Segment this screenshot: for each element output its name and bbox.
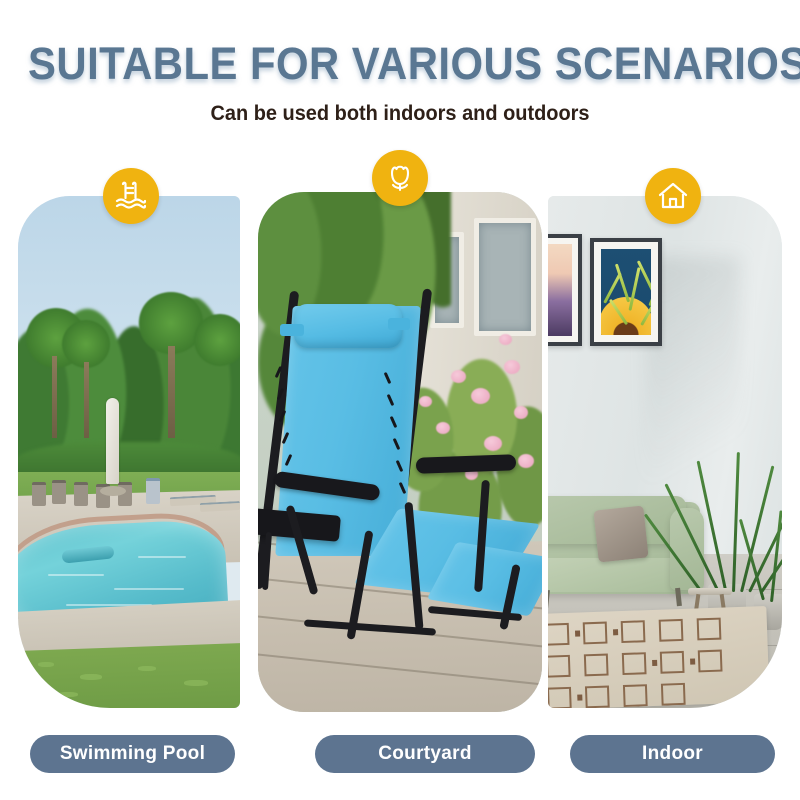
patio-chair (52, 480, 66, 504)
page-header: SUITABLE FOR VARIOUS SCENARIOS Can be us… (0, 0, 800, 126)
leaf-blade (637, 260, 651, 295)
rug-motif (698, 650, 723, 673)
page-subtitle: Can be used both indoors and outdoors (20, 102, 780, 126)
rug-motif (621, 620, 646, 643)
rug-motif (577, 694, 582, 700)
rug-motif (583, 622, 608, 645)
rug-motif (584, 654, 609, 677)
area-rug (548, 606, 770, 708)
grass-detail (184, 680, 208, 686)
product-feature-page: SUITABLE FOR VARIOUS SCENARIOS Can be us… (0, 0, 800, 800)
patio-chair (32, 482, 46, 506)
rug-motif (690, 658, 695, 664)
wall-art-frame-sunflower (590, 238, 662, 346)
grass-detail (38, 662, 54, 667)
grass-detail (58, 692, 78, 697)
palm-tree-icon (62, 320, 110, 368)
grass-detail (80, 674, 102, 680)
caption-pill-courtyard[interactable]: Courtyard (315, 735, 535, 773)
badge-indoor (645, 168, 701, 224)
palm-trunk (84, 362, 89, 438)
rug-motif (623, 684, 648, 707)
headrest-strap (280, 324, 304, 336)
rug-motif (548, 687, 572, 708)
patio-chair (146, 478, 160, 504)
tulip-flower-icon (384, 162, 416, 194)
caption-label: Courtyard (378, 743, 472, 765)
badge-courtyard (372, 150, 428, 206)
rug-motif (613, 629, 618, 635)
patio-chair (74, 482, 88, 506)
caption-label: Indoor (642, 743, 703, 765)
lawn-lower (18, 642, 240, 708)
wall-art-frame-left (548, 234, 582, 346)
house-icon (657, 181, 689, 211)
pool-ladder-icon (114, 181, 148, 211)
patio-umbrella (106, 398, 119, 484)
rug-motif (659, 619, 684, 642)
side-table-top (688, 588, 732, 595)
rug-motif (548, 623, 569, 646)
grass-detail (138, 666, 156, 671)
water-ripple (138, 556, 186, 558)
umbrella-base (100, 486, 126, 496)
chair-headrest-pillow (294, 304, 402, 348)
badge-swimming-pool (103, 168, 159, 224)
pool-scene (18, 196, 240, 708)
courtyard-scene (258, 192, 542, 712)
water-ripple (114, 588, 184, 590)
scene-image-swimming-pool (18, 196, 240, 708)
palm-tree-icon (194, 314, 240, 366)
rug-motif (660, 651, 685, 674)
caption-pill-swimming-pool[interactable]: Swimming Pool (30, 735, 235, 773)
artwork-sunflower (601, 249, 651, 335)
palm-trunk (168, 346, 175, 438)
scene-image-indoor (548, 196, 782, 708)
rug-motif (585, 686, 610, 708)
scene-image-courtyard (258, 192, 542, 712)
page-title: SUITABLE FOR VARIOUS SCENARIOS (28, 38, 772, 90)
rug-motif (548, 655, 571, 678)
caption-label: Swimming Pool (60, 743, 205, 765)
rug-motif (661, 683, 686, 706)
headrest-strap (388, 318, 410, 330)
rug-motif (697, 618, 722, 641)
artwork-abstract (548, 244, 572, 336)
rug-motif (622, 652, 647, 675)
palm-trunk (52, 356, 57, 438)
accent-pillow (593, 506, 648, 563)
indoor-scene (548, 196, 782, 708)
rug-motif (575, 630, 580, 636)
chair-armrest-right (416, 454, 516, 473)
water-ripple (48, 574, 104, 576)
caption-pill-indoor[interactable]: Indoor (570, 735, 775, 773)
rug-motif (652, 660, 657, 666)
zero-gravity-chair (260, 288, 540, 688)
